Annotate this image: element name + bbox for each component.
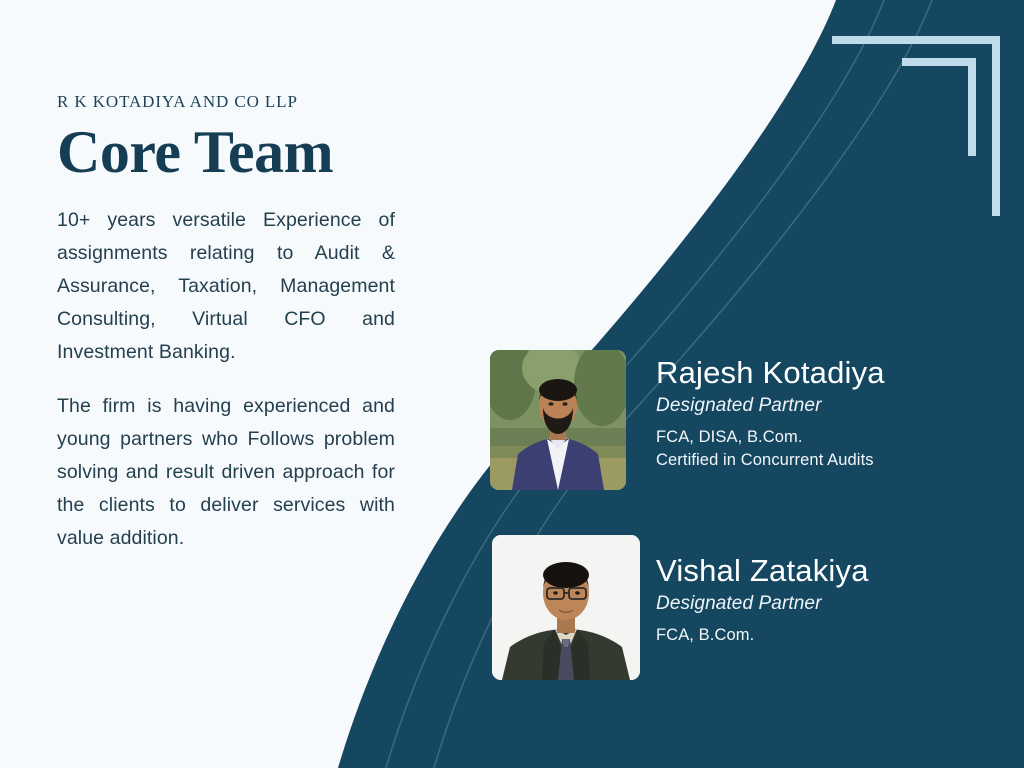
bracket-inner-vertical	[968, 58, 976, 156]
person-qualifications-2: FCA, B.Com.	[656, 624, 996, 647]
person-info-1: Rajesh Kotadiya Designated Partner FCA, …	[656, 356, 996, 473]
person-name-2: Vishal Zatakiya	[656, 554, 996, 589]
bracket-outer-vertical	[992, 36, 1000, 216]
page-title: Core Team	[57, 122, 395, 182]
company-name: R K KOTADIYA AND CO LLP	[57, 92, 395, 112]
portrait-illustration-1	[490, 350, 626, 490]
person-role-2: Designated Partner	[656, 593, 996, 615]
bracket-outer-horizontal	[832, 36, 1000, 44]
body-paragraph-2: The firm is having experienced and young…	[57, 390, 395, 555]
person-role-1: Designated Partner	[656, 395, 996, 417]
body-paragraph-1: 10+ years versatile Experience of assign…	[57, 204, 395, 369]
person-qualifications-1: FCA, DISA, B.Com. Certified in Concurren…	[656, 426, 996, 473]
portrait-illustration-2	[492, 535, 640, 680]
corner-bracket-ornament	[832, 36, 1012, 224]
person-name-1: Rajesh Kotadiya	[656, 356, 996, 391]
bracket-inner-horizontal	[902, 58, 976, 66]
slide-canvas: R K KOTADIYA AND CO LLP Core Team 10+ ye…	[0, 0, 1024, 768]
person-info-2: Vishal Zatakiya Designated Partner FCA, …	[656, 554, 996, 647]
avatar-photo-1	[490, 350, 626, 490]
avatar-photo-2	[492, 535, 640, 680]
text-column: R K KOTADIYA AND CO LLP Core Team 10+ ye…	[57, 92, 395, 555]
